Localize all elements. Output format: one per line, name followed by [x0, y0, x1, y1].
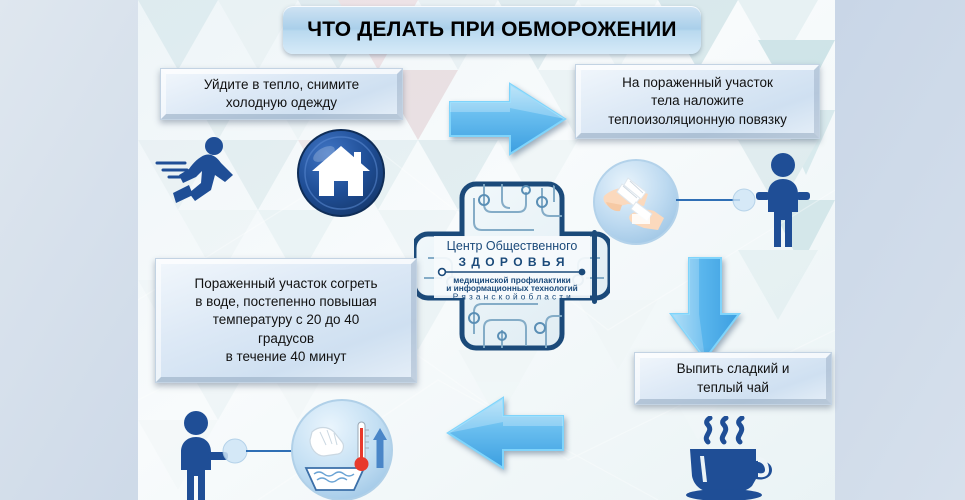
water-line-4: градусов [258, 331, 314, 346]
water-line-3: температуру с 20 до 40 [213, 312, 360, 327]
step-box-water: Пораженный участок согреть в воде, посте… [155, 258, 417, 383]
house-icon [296, 128, 386, 218]
page-title-text: ЧТО ДЕЛАТЬ ПРИ ОБМОРОЖЕНИИ [307, 18, 676, 42]
organization-logo: Центр Общественного З Д О Р О В Ь Я меди… [414, 178, 610, 354]
tea-cup-icon [668, 416, 778, 500]
logo-line-5: Р я з а н с к о й о б л а с т и [453, 292, 571, 302]
warm-line-2: холодную одежду [226, 95, 337, 110]
tea-line-2: теплый чай [697, 380, 769, 395]
page-title: ЧТО ДЕЛАТЬ ПРИ ОБМОРОЖЕНИИ [283, 6, 701, 54]
hand-in-water-basin-icon [290, 398, 394, 500]
step-box-warm: Уйдите в тепло, снимите холодную одежду [160, 68, 403, 120]
logo-line-2: З Д О Р О В Ь Я [459, 255, 566, 269]
step-box-tea: Выпить сладкий и теплый чай [634, 352, 832, 405]
water-line-1: Пораженный участок согреть [194, 276, 377, 291]
water-line-2: в воде, постепенно повышая [195, 294, 376, 309]
bandage-line-2: тела наложите [651, 93, 744, 108]
bandage-line-3: теплоизоляционную повязку [608, 112, 787, 127]
step-box-water-text: Пораженный участок согреть в воде, посте… [194, 275, 377, 366]
running-person-icon [155, 135, 245, 210]
step-box-bandage-text: На пораженный участок тела наложите тепл… [608, 74, 787, 129]
logo-line-1: Центр Общественного [447, 239, 578, 253]
water-line-5: в течение 40 минут [226, 349, 347, 364]
step-box-tea-text: Выпить сладкий и теплый чай [677, 360, 790, 396]
step-box-bandage: На пораженный участок тела наложите тепл… [575, 64, 820, 139]
arrow-left-icon [446, 396, 566, 470]
arrow-right-icon [448, 82, 568, 156]
arrow-down-icon [668, 256, 742, 362]
step-box-warm-text: Уйдите в тепло, снимите холодную одежду [204, 76, 359, 112]
connector-line-right [676, 188, 756, 212]
warm-line-1: Уйдите в тепло, снимите [204, 77, 359, 92]
bandage-line-1: На пораженный участок [622, 75, 773, 90]
tea-line-1: Выпить сладкий и [677, 361, 790, 376]
standing-person-icon [752, 152, 814, 250]
